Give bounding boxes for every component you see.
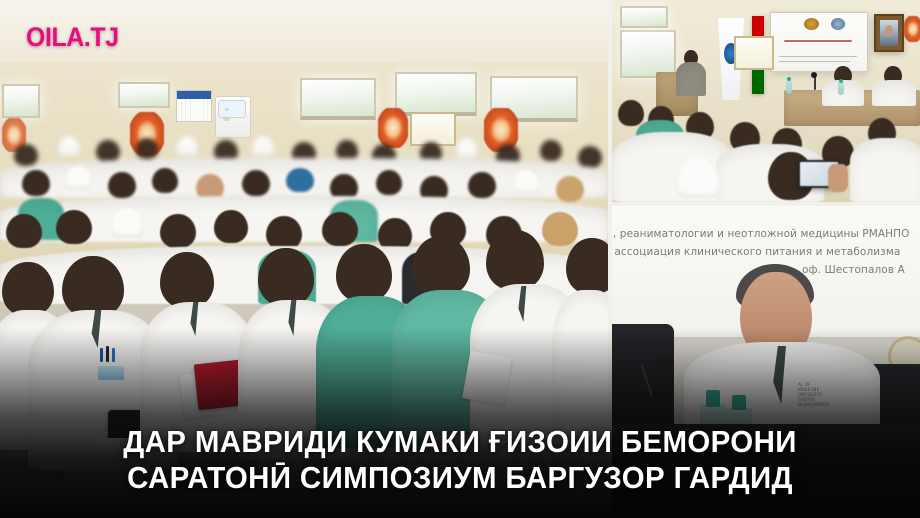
headline-line-2: САРАТОНӢ СИМПОЗИУМ БАРГУЗОР ГАРДИД: [40, 460, 880, 496]
audience-backs: [612, 96, 920, 202]
framed-portrait: [874, 14, 904, 52]
slide-body-line: [779, 61, 850, 63]
hand: [828, 164, 848, 192]
crowd-person: [108, 172, 136, 198]
paper-sheet: [462, 351, 512, 406]
pen: [112, 348, 115, 362]
crowd-person: [456, 138, 478, 158]
brand-logo[interactable]: OILA.TJ: [26, 24, 119, 51]
panel-divider-horizontal: [608, 202, 920, 206]
id-badge: [98, 366, 124, 380]
crowd-person: [110, 208, 144, 238]
portrait-image: [880, 20, 898, 46]
projector-screen: [770, 12, 868, 72]
window: [300, 78, 376, 120]
window: [620, 6, 668, 28]
crowd-person: [136, 138, 158, 159]
pen: [100, 348, 103, 362]
speaker-body: [676, 62, 706, 96]
calendar-header: [177, 91, 211, 99]
water-bottle: [786, 80, 792, 94]
red-folder: [194, 360, 245, 411]
wall-poster: [734, 36, 774, 70]
crowd-person: [376, 170, 402, 195]
headline-line-1: ДАР МАВРИДИ КУМАКИ ҒИЗОИИ БЕМОРОНИ: [40, 424, 880, 460]
crowd-person: [322, 212, 358, 246]
crowd-person: [468, 172, 496, 198]
crowd-person: [266, 216, 302, 250]
front-person-head: [486, 230, 544, 290]
window: [620, 30, 676, 78]
crowd-person: [14, 144, 38, 166]
wall-calendar: [176, 90, 212, 122]
crowd-person: [176, 136, 198, 156]
slide-text-line-1: и, реаниматологии и неотложной медицины …: [612, 228, 910, 240]
photo-panel-top-right: [612, 0, 920, 202]
crowd-person: [242, 170, 270, 196]
front-person-head: [160, 252, 214, 308]
microphone-stand: [814, 76, 816, 90]
news-thumbnail-card: и, реаниматологии и неотложной медицины …: [0, 0, 920, 518]
front-person-head: [336, 244, 392, 302]
wall-ornament: [904, 16, 920, 42]
pen: [106, 346, 109, 362]
slide-body-line: [779, 56, 858, 58]
slide-text-line-3: оф. Шестопалов А: [802, 264, 905, 276]
front-person-head: [2, 262, 54, 316]
slide-text-line-2: ая ассоциация клинического питания и мет…: [612, 246, 900, 258]
crowd-person: [542, 212, 578, 246]
crowd-person: [58, 136, 80, 156]
shoe: [556, 364, 592, 382]
coat-embroidery: AL OF MEDICINEONCOLOGY CENTERMAJMUDDINOV: [798, 382, 830, 407]
crowd-person: [96, 140, 120, 162]
crowd-person: [512, 170, 540, 194]
crowd-person: [6, 214, 42, 248]
headline: ДАР МАВРИДИ КУМАКИ ҒИЗОИИ БЕМОРОНИ САРАТ…: [0, 424, 920, 496]
window: [118, 82, 170, 108]
microphone-head: [656, 354, 674, 370]
crowd-person: [152, 168, 178, 193]
crowd-person: [252, 136, 274, 156]
shoe: [516, 378, 556, 398]
crowd-person: [556, 176, 584, 202]
crowd-person: [540, 140, 562, 161]
audience-coat: [850, 138, 920, 202]
slide-title-line: [784, 40, 851, 42]
front-person-head: [412, 236, 470, 296]
crowd-person: [160, 214, 196, 248]
calendar-grid: [177, 99, 211, 121]
microphone-head: [811, 72, 817, 78]
crowd-person-cap: [286, 168, 314, 192]
water-bottle: [838, 82, 844, 95]
crowd-person: [64, 166, 92, 190]
slide-emblem: [831, 18, 845, 30]
front-person-head: [62, 256, 124, 318]
slide-emblem: [804, 18, 819, 31]
wall-unit-vent: [218, 100, 246, 118]
crowd-person: [56, 210, 92, 244]
front-person-head: [258, 248, 314, 306]
crowd-person: [214, 210, 248, 243]
audience-head: [618, 100, 644, 126]
window: [2, 84, 40, 118]
front-person-head: [566, 238, 608, 294]
crowd-person: [22, 170, 50, 196]
